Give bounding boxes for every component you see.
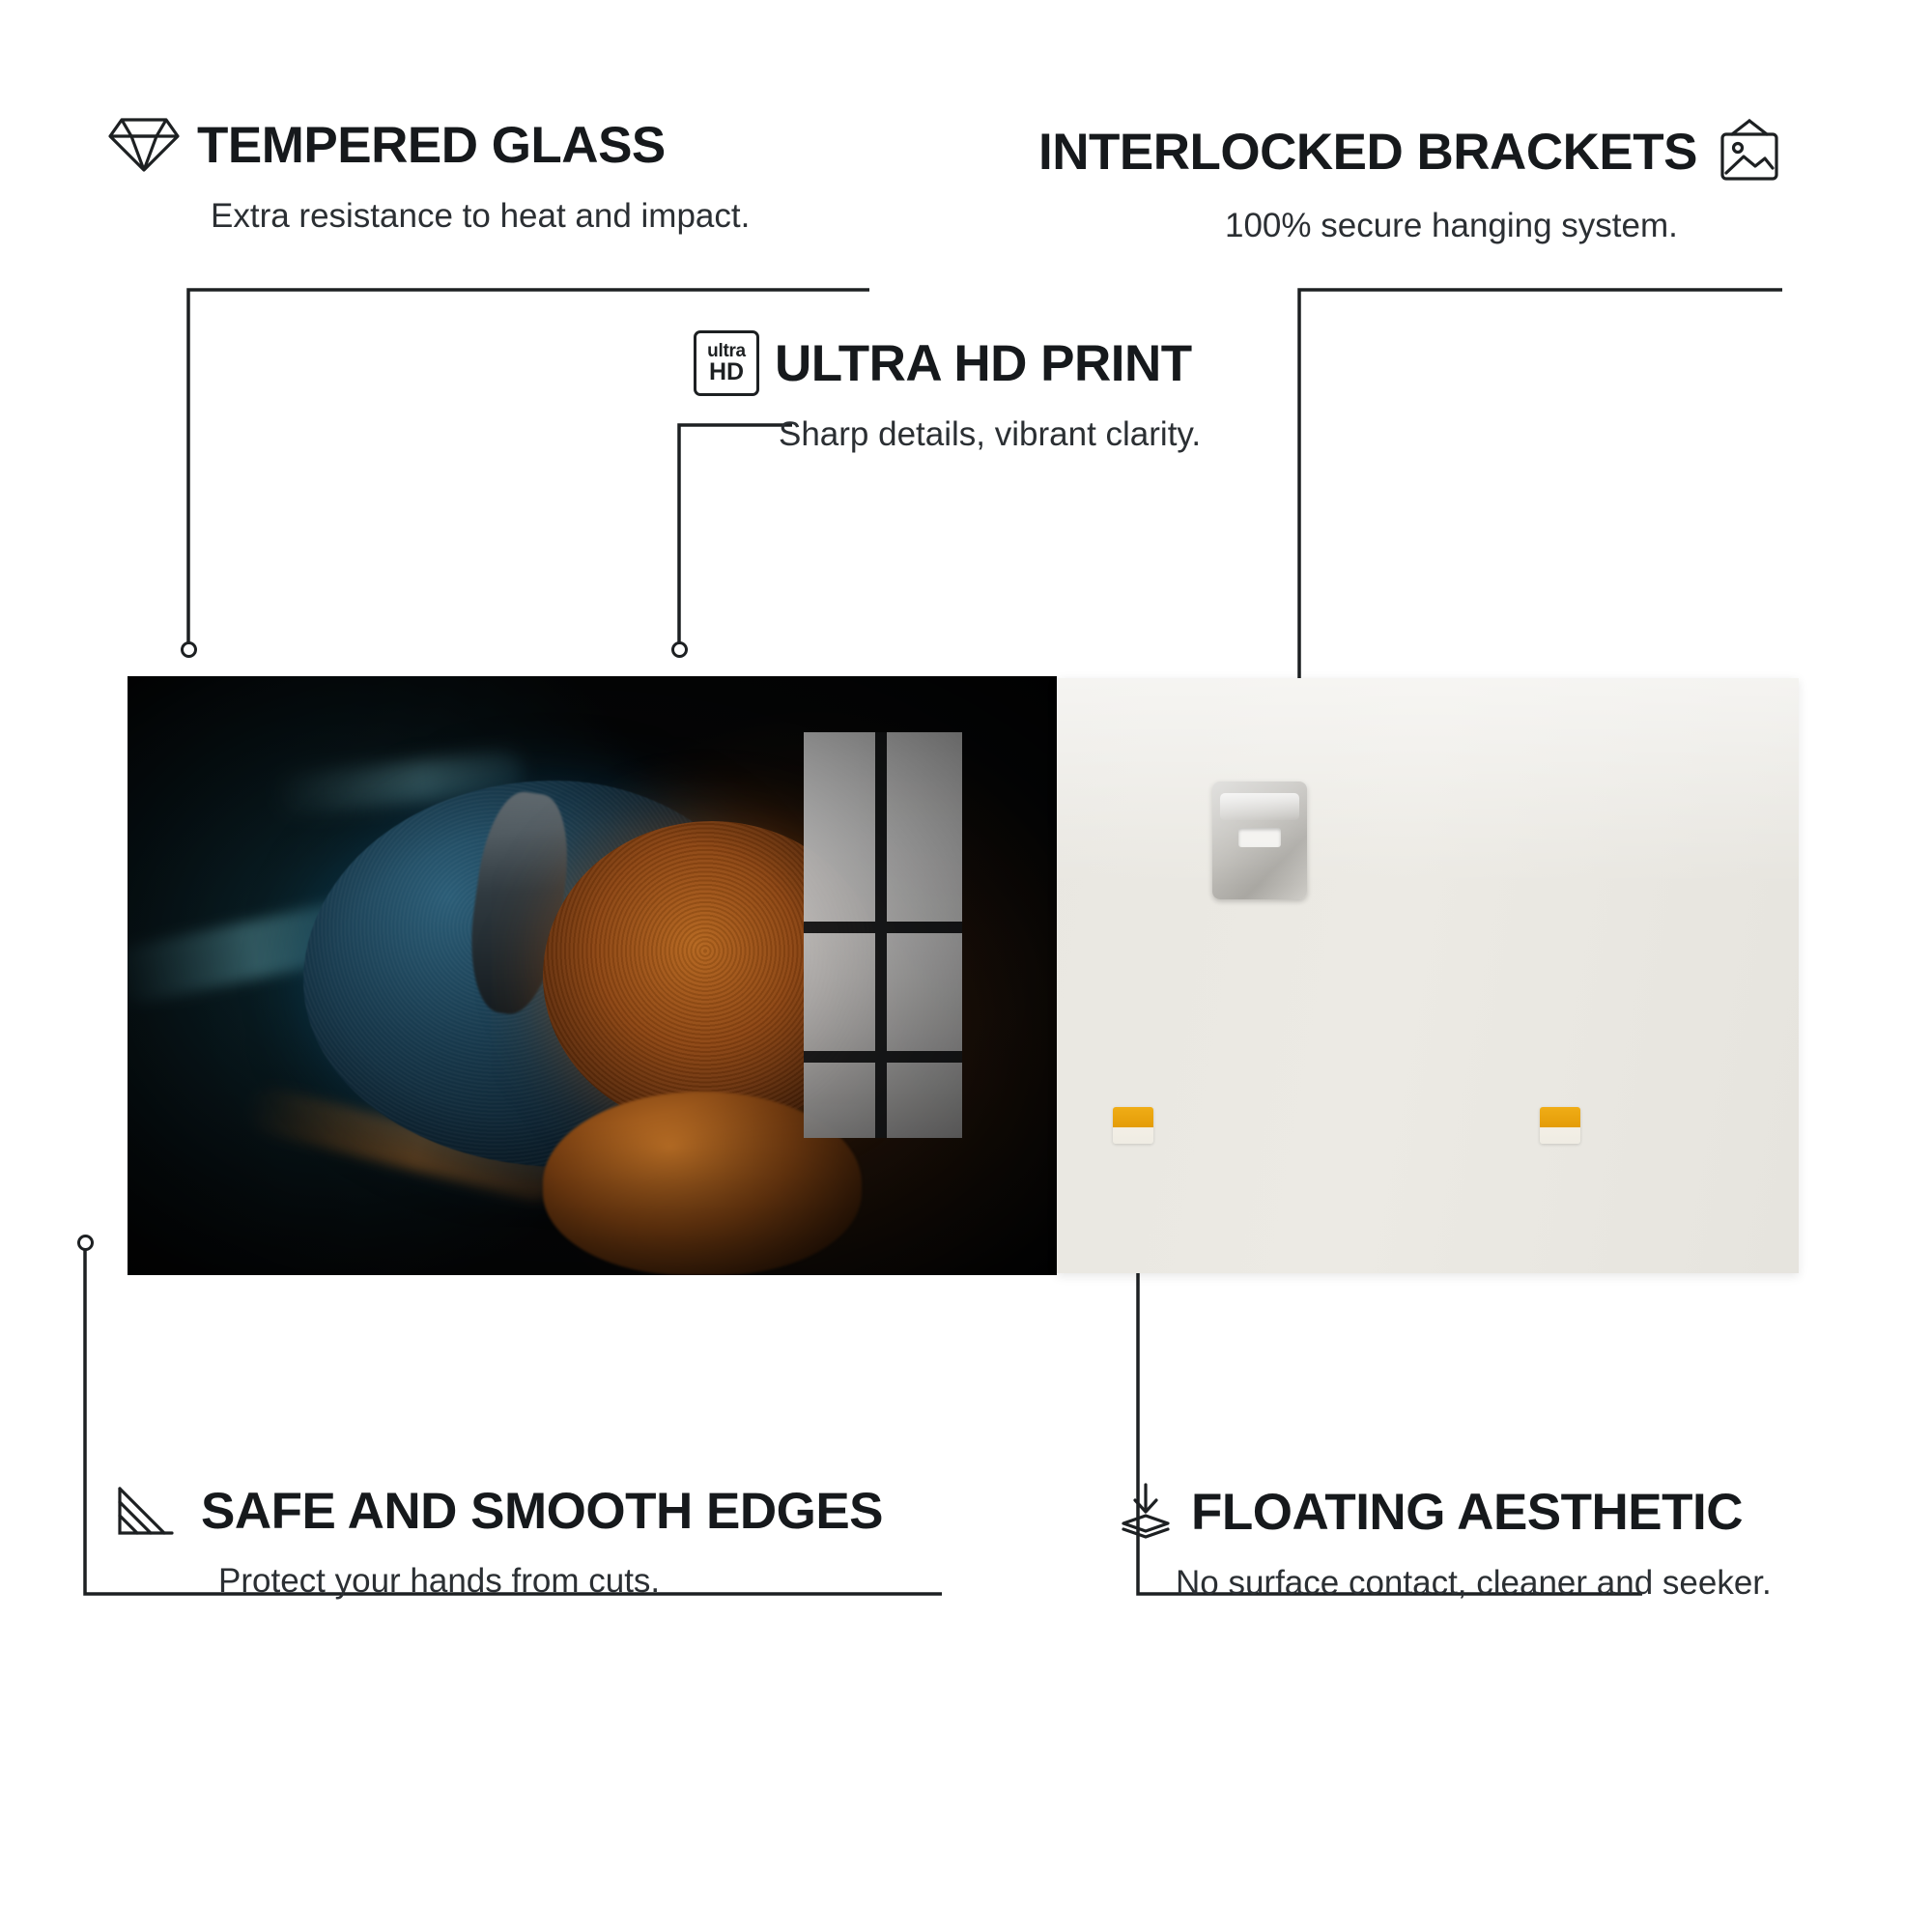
feature-floating-aesthetic: FLOATING AESTHETIC No surface contact, c… [1116,1481,1772,1603]
feature-header: TEMPERED GLASS [106,114,750,176]
feature-header: ultra HD ULTRA HD PRINT [694,330,1201,396]
infographic-stage: TEMPERED GLASS Extra resistance to heat … [0,0,1932,1932]
feature-title: FLOATING AESTHETIC [1191,1487,1743,1538]
feature-title: TEMPERED GLASS [197,120,666,171]
diamond-icon [106,114,182,176]
connector-dot-tempered-glass [181,641,197,658]
macro-insect-photo [128,676,1057,1275]
feature-subtitle: Protect your hands from cuts. [218,1562,883,1601]
badge-line-2: HD [709,360,744,385]
feature-title: INTERLOCKED BRACKETS [1038,127,1697,178]
connector-dot-edges [77,1235,94,1251]
bracket-slot [1238,828,1281,847]
float-mount-arrow-icon [1116,1481,1176,1543]
connector-dot-ultra-hd [671,641,688,658]
feature-header: INTERLOCKED BRACKETS [1038,118,1786,185]
glass-print-back [1057,678,1799,1273]
spacer-pad-right [1540,1107,1580,1144]
hanging-bracket [1212,781,1307,899]
feature-header: FLOATING AESTHETIC [1116,1481,1772,1543]
spacer-pad-left [1113,1107,1153,1144]
connector-ultra-hd [679,425,792,649]
feature-subtitle: Extra resistance to heat and impact. [211,197,750,236]
feature-safe-and-smooth-edges: SAFE AND SMOOTH EDGES Protect your hands… [114,1481,883,1601]
feature-title: ULTRA HD PRINT [775,338,1192,389]
beveled-edge-icon [114,1481,185,1541]
feature-header: SAFE AND SMOOTH EDGES [114,1481,883,1541]
feature-title: SAFE AND SMOOTH EDGES [201,1486,883,1537]
photo-vignette [128,676,1057,1275]
product-illustration [128,676,1799,1275]
ultra-hd-badge-icon: ultra HD [694,330,759,396]
feature-ultra-hd-print: ultra HD ULTRA HD PRINT Sharp details, v… [694,330,1201,454]
feature-subtitle: Sharp details, vibrant clarity. [779,415,1201,454]
feature-subtitle: No surface contact, cleaner and seeker. [1176,1564,1772,1603]
feature-interlocked-brackets: INTERLOCKED BRACKETS 100% secure hanging… [1038,118,1786,245]
feature-subtitle: 100% secure hanging system. [1225,207,1786,245]
bracket-lip [1220,793,1299,820]
feature-tempered-glass: TEMPERED GLASS Extra resistance to heat … [106,114,750,236]
connector-brackets [1299,290,1782,723]
picture-hanging-icon [1713,118,1786,185]
glass-print-front [128,676,1057,1275]
